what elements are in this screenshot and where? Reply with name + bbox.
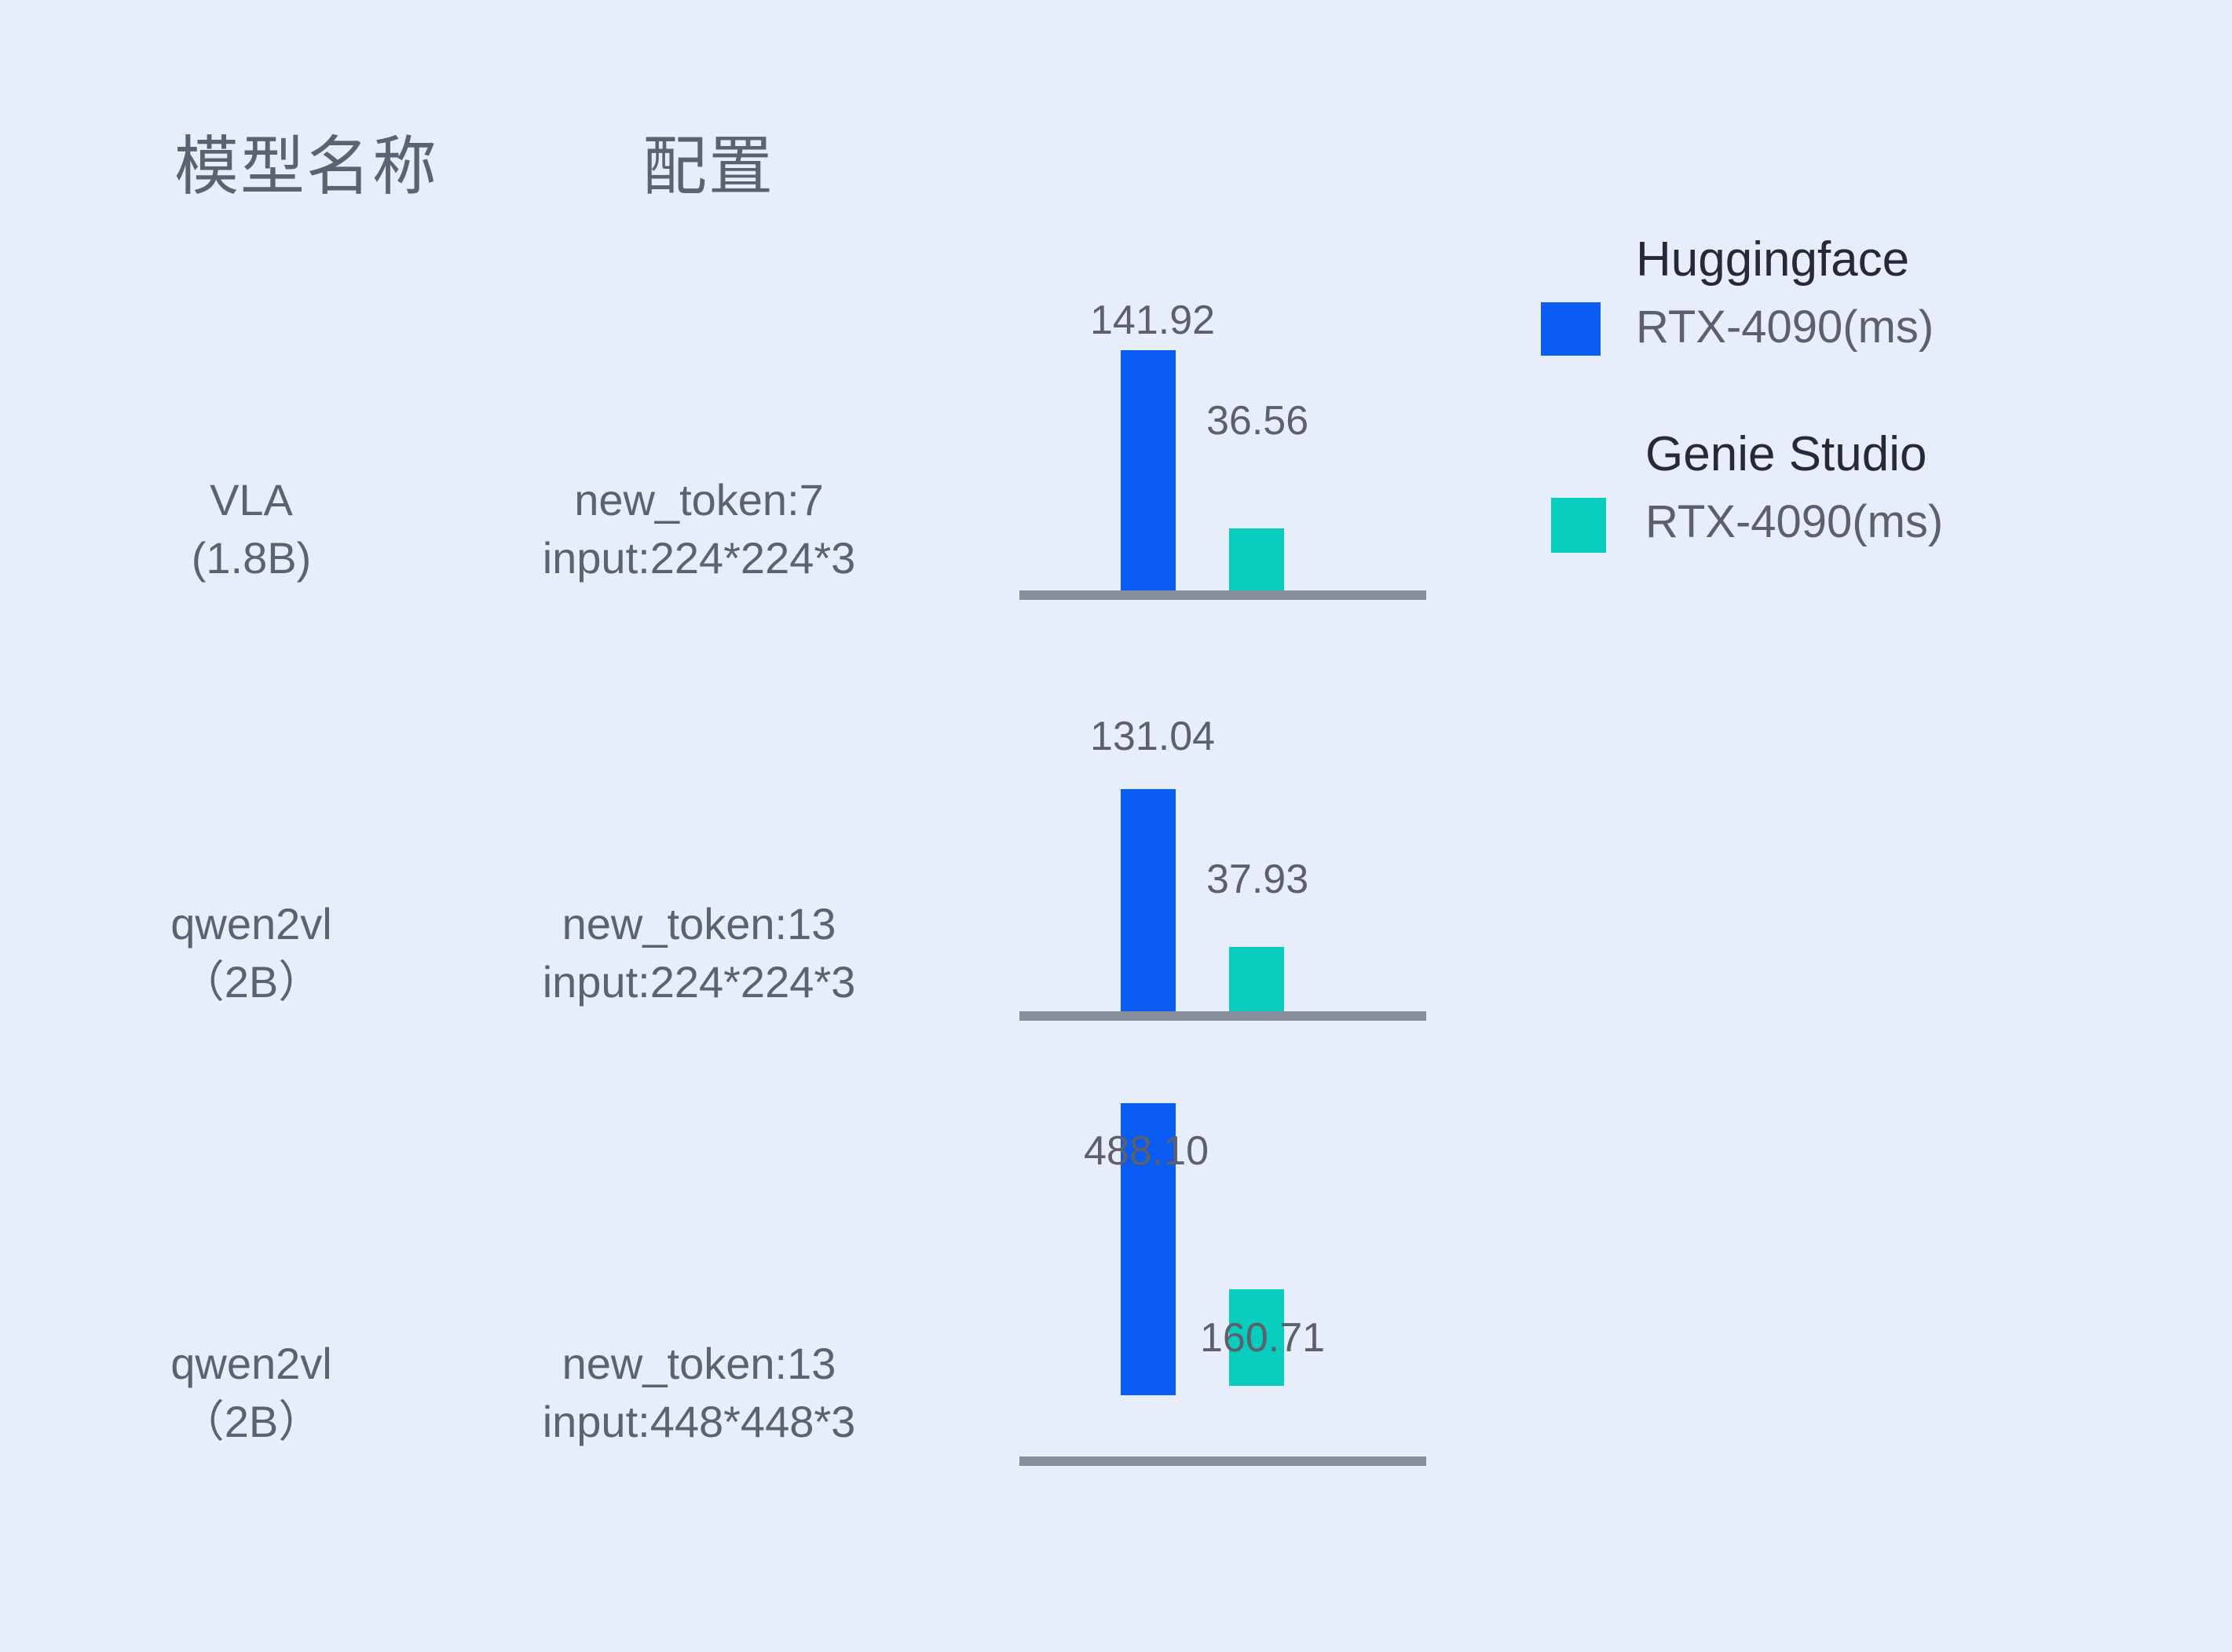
model-name-cell: VLA (1.8B) bbox=[94, 471, 408, 587]
config-line-1: new_token:13 bbox=[456, 1335, 942, 1393]
legend-label-huggingface: Huggingface RTX-4090(ms) bbox=[1636, 236, 1934, 350]
bar-value-huggingface: 488.10 bbox=[1084, 1131, 1209, 1171]
config-line-2: input:448*448*3 bbox=[456, 1393, 942, 1451]
bar-value-huggingface: 131.04 bbox=[1090, 716, 1215, 757]
chart-canvas: 模型名称 配置 VLA (1.8B) new_token:7 input:224… bbox=[0, 0, 2232, 1652]
model-name-line-1: qwen2vl bbox=[94, 1335, 408, 1393]
model-name-line-1: qwen2vl bbox=[94, 895, 408, 953]
config-cell: new_token:13 input:448*448*3 bbox=[456, 1335, 942, 1451]
model-name-line-2: （2B） bbox=[94, 1393, 408, 1451]
legend-title: Huggingface bbox=[1636, 236, 1934, 284]
legend-subtitle: RTX-4090(ms) bbox=[1636, 305, 1934, 350]
bar-value-genie-studio: 36.56 bbox=[1206, 400, 1308, 441]
model-name-line-1: VLA bbox=[94, 471, 408, 529]
bar-genie-studio bbox=[1229, 947, 1284, 1011]
legend-swatch-genie-studio-icon bbox=[1551, 498, 1606, 553]
bar-huggingface bbox=[1121, 789, 1176, 1011]
config-cell: new_token:7 input:224*224*3 bbox=[456, 471, 942, 587]
row-baseline bbox=[1019, 1011, 1426, 1021]
bar-huggingface bbox=[1121, 350, 1176, 590]
legend-subtitle: RTX-4090(ms) bbox=[1645, 499, 1943, 545]
column-header-config: 配置 bbox=[642, 135, 774, 199]
legend-label-genie-studio: Genie Studio RTX-4090(ms) bbox=[1645, 430, 1943, 545]
column-header-model-name: 模型名称 bbox=[174, 135, 438, 199]
legend-item-genie-studio[interactable]: Genie Studio RTX-4090(ms) bbox=[1535, 393, 2164, 550]
model-name-line-2: （2B） bbox=[94, 953, 408, 1011]
row-baseline bbox=[1019, 1456, 1426, 1466]
config-line-1: new_token:13 bbox=[456, 895, 942, 953]
row-baseline bbox=[1019, 590, 1426, 600]
bar-value-genie-studio: 37.93 bbox=[1206, 859, 1308, 900]
model-name-cell: qwen2vl （2B） bbox=[94, 895, 408, 1011]
row-chart: 488.10 160.71 bbox=[1019, 1091, 1428, 1476]
model-name-cell: qwen2vl （2B） bbox=[94, 1335, 408, 1451]
config-line-1: new_token:7 bbox=[456, 471, 942, 529]
config-line-2: input:224*224*3 bbox=[456, 529, 942, 587]
row-chart: 131.04 37.93 bbox=[1019, 675, 1428, 1021]
legend-item-huggingface[interactable]: Huggingface RTX-4090(ms) bbox=[1535, 236, 2164, 393]
bar-value-genie-studio: 160.71 bbox=[1200, 1318, 1325, 1358]
chart-legend: Huggingface RTX-4090(ms) Genie Studio RT… bbox=[1535, 236, 2164, 581]
legend-title: Genie Studio bbox=[1645, 430, 1943, 479]
row-chart: 141.92 36.56 bbox=[1019, 259, 1428, 597]
legend-swatch-huggingface-icon bbox=[1541, 302, 1601, 356]
bar-value-huggingface: 141.92 bbox=[1090, 300, 1215, 341]
config-cell: new_token:13 input:224*224*3 bbox=[456, 895, 942, 1011]
model-name-line-2: (1.8B) bbox=[94, 529, 408, 587]
bar-genie-studio bbox=[1229, 528, 1284, 590]
config-line-2: input:224*224*3 bbox=[456, 953, 942, 1011]
